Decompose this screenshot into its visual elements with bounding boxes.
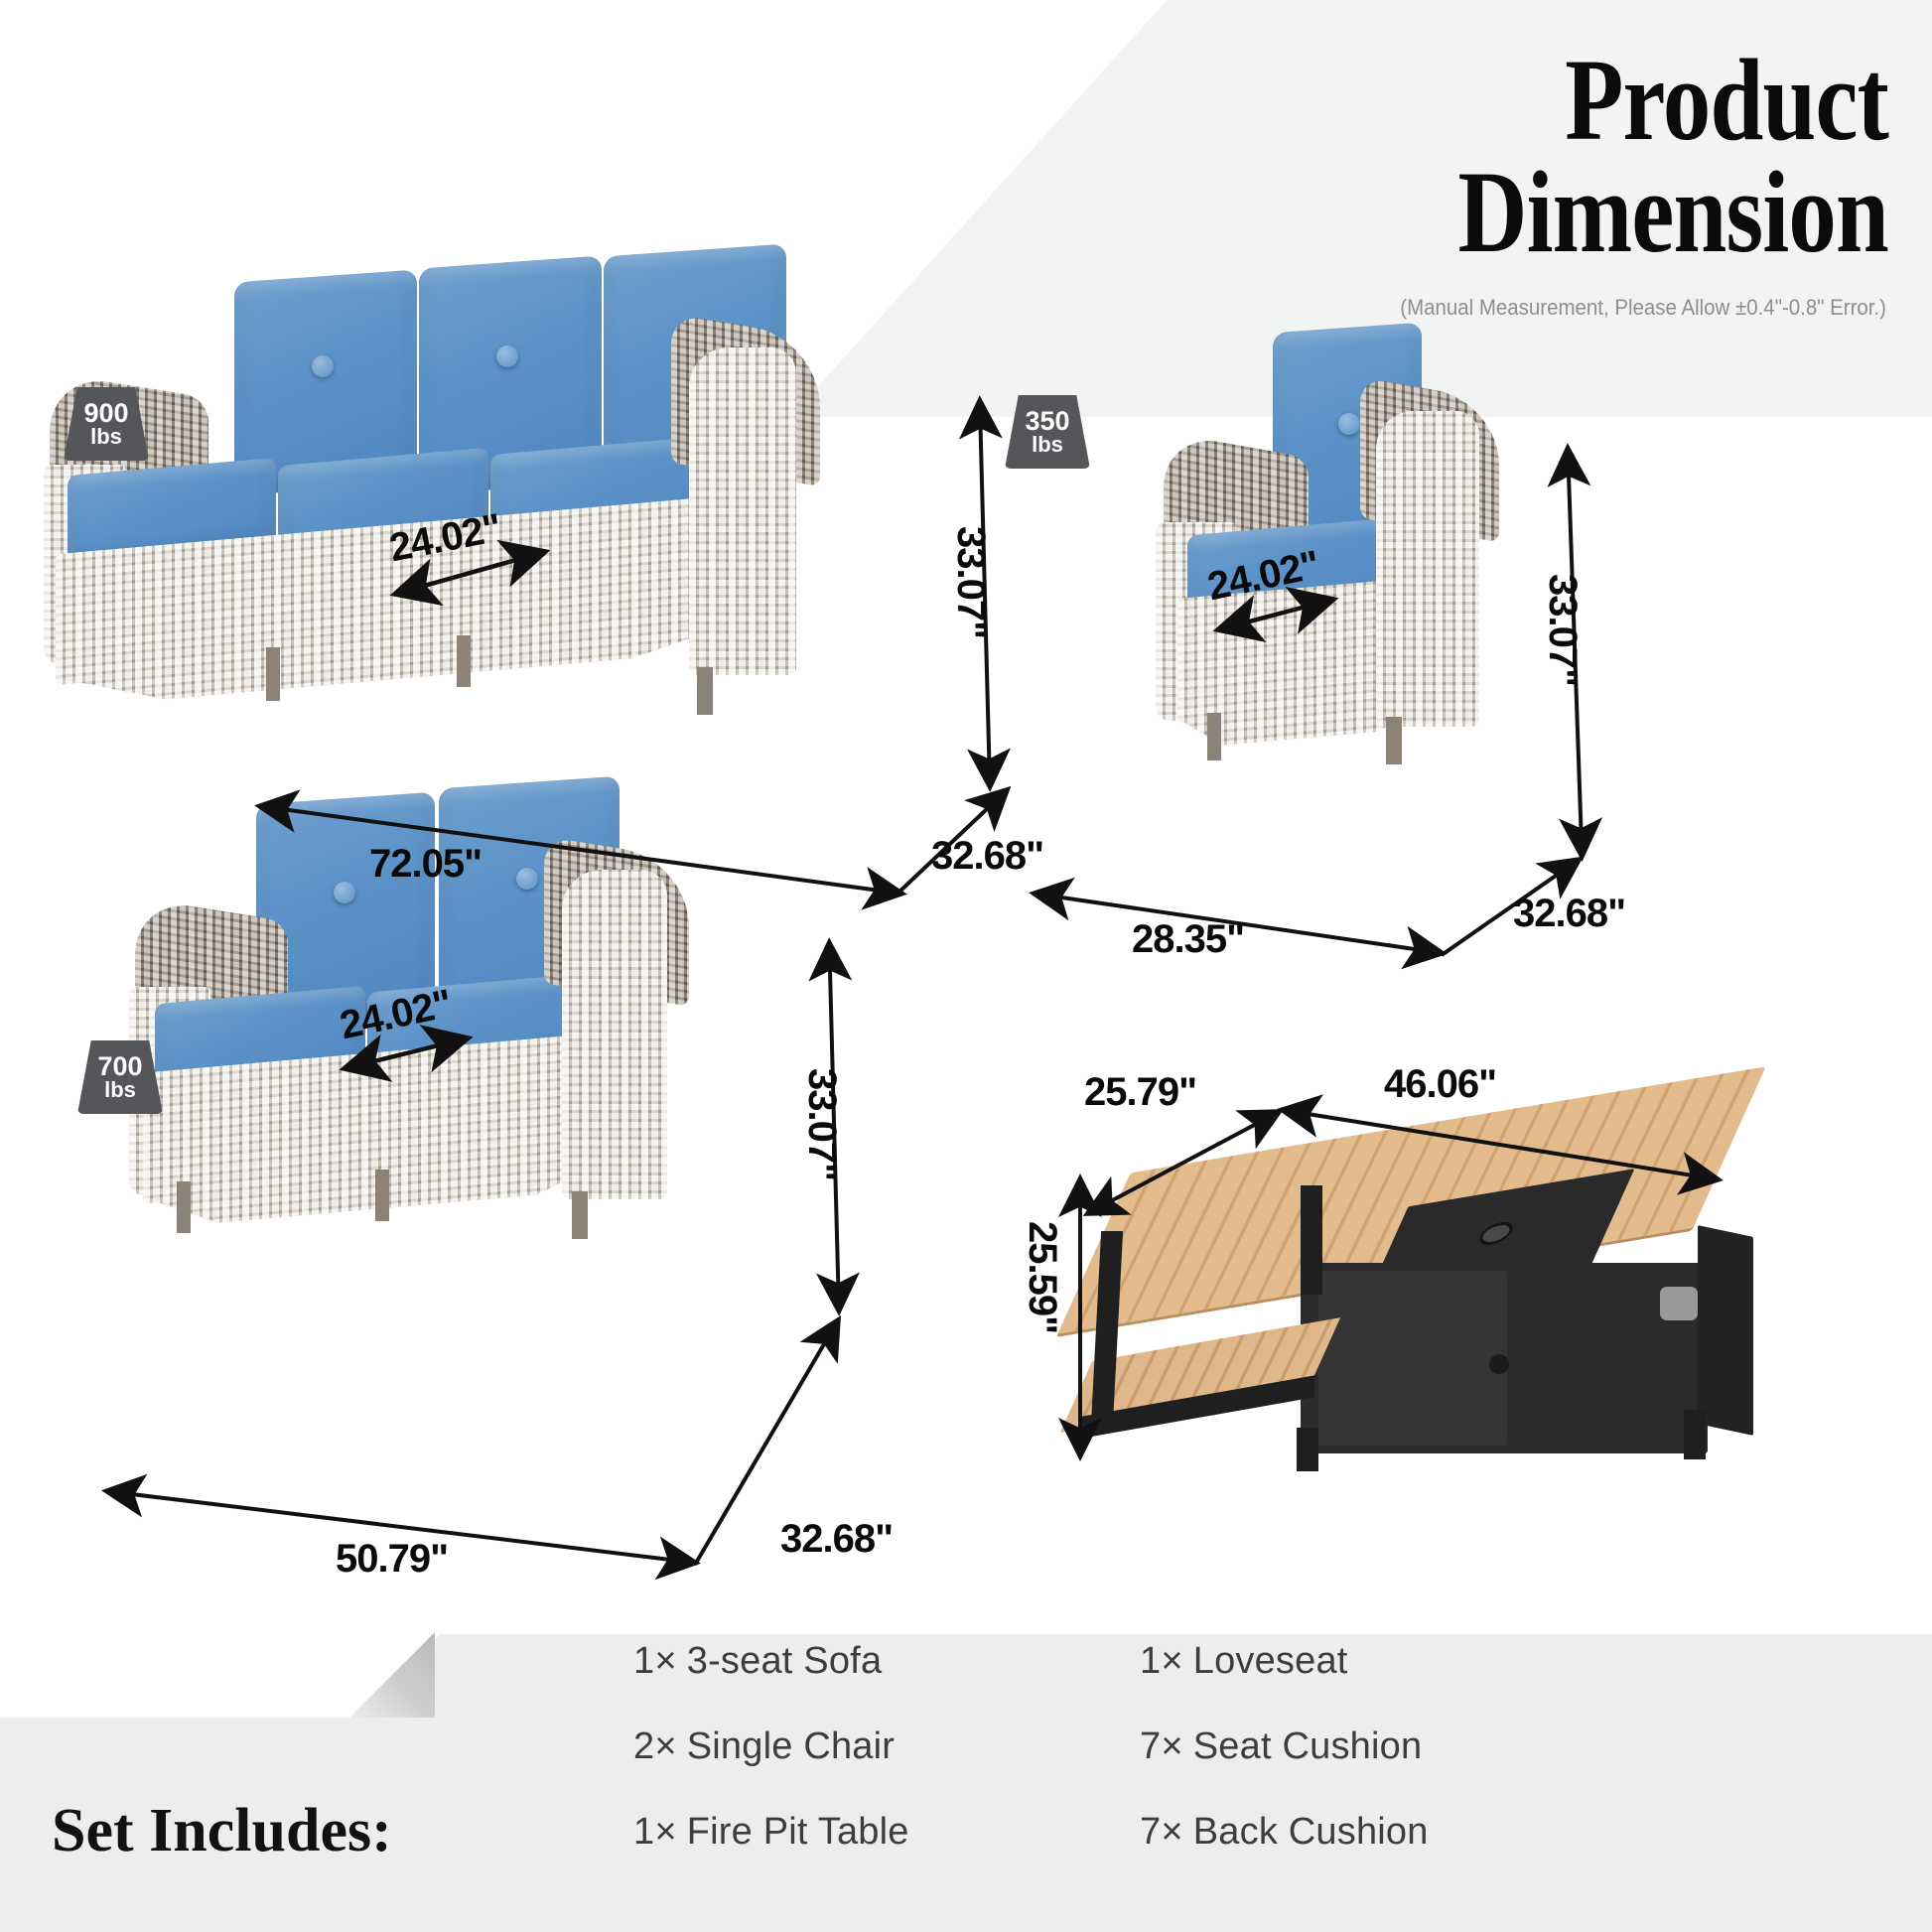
item-qty: 7× (1140, 1811, 1193, 1853)
item-label: Fire Pit Table (687, 1811, 909, 1853)
footer-background-panel (0, 1634, 1932, 1932)
item-label: Loveseat (1193, 1640, 1348, 1682)
loveseat-weight-badge: 700 lbs (77, 1040, 163, 1114)
page-title-line2: Dimension (1172, 156, 1888, 268)
loveseat-leg-2 (375, 1170, 389, 1221)
item-qty: 7× (1140, 1725, 1193, 1767)
loveseat-depth-label: 32.68" (780, 1517, 893, 1562)
item-label: Back Cushion (1193, 1811, 1429, 1853)
firepit-leg-back-left (1301, 1185, 1322, 1295)
infographic-canvas: Product Dimension (Manual Measurement, P… (0, 0, 1932, 1932)
chair-leg-1 (1207, 713, 1221, 760)
set-includes-heading: Set Includes: (52, 1796, 392, 1866)
weight-icon: 350 lbs (1005, 395, 1090, 469)
sofa-leg-1 (266, 647, 280, 701)
loveseat-illustration (129, 824, 804, 1340)
firepit-control-knob (1660, 1287, 1698, 1320)
measurement-disclaimer: (Manual Measurement, Please Allow ±0.4"-… (1055, 295, 1886, 321)
firepit-side-panel (1698, 1225, 1753, 1436)
chair-weight-unit: lbs (1032, 434, 1063, 456)
list-item: 1×Loveseat (1140, 1618, 1429, 1704)
list-item: 7×Seat Cushion (1140, 1704, 1429, 1789)
sofa-tuft-2 (496, 345, 518, 367)
firepit-table-illustration (1052, 1112, 1787, 1529)
firepit-leg-front-right (1684, 1410, 1706, 1459)
loveseat-leg-1 (177, 1181, 191, 1233)
item-label: Seat Cushion (1193, 1725, 1423, 1767)
chair-right-arm-side (1376, 411, 1479, 727)
chair-tuft (1338, 413, 1360, 435)
loveseat-tuft-2 (516, 868, 538, 890)
page-title-line1: Product (1172, 44, 1888, 156)
list-item: 1×3-seat Sofa (633, 1618, 909, 1704)
firepit-height-label: 25.59" (1020, 1221, 1064, 1333)
sofa-tuft-1 (312, 355, 334, 377)
loveseat-weight-unit: lbs (104, 1079, 136, 1101)
sofa-weight-value: 900 (83, 400, 128, 426)
set-includes-column-right: 1×Loveseat 7×Seat Cushion 7×Back Cushion (1140, 1618, 1429, 1874)
item-qty: 1× (633, 1640, 687, 1682)
sofa-weight-badge: 900 lbs (64, 387, 149, 461)
firepit-door-handle (1489, 1354, 1509, 1374)
loveseat-height-label: 33.07" (799, 1068, 844, 1180)
firepit-length-label: 46.06" (1384, 1062, 1496, 1107)
item-label: Single Chair (687, 1725, 895, 1767)
firepit-leg-front-center (1297, 1428, 1318, 1471)
chair-leg-2 (1386, 717, 1402, 764)
item-qty: 1× (1140, 1640, 1193, 1682)
loveseat-right-arm-side (562, 870, 667, 1199)
item-label: 3-seat Sofa (687, 1640, 883, 1682)
chair-depth-label: 32.68" (1513, 892, 1625, 936)
loveseat-leg-3 (572, 1191, 588, 1239)
loveseat-width-label: 50.79" (336, 1537, 448, 1582)
firepit-burner-hole (1475, 1220, 1517, 1248)
loveseat-weight-value: 700 (97, 1053, 142, 1079)
sofa-illustration (40, 298, 963, 854)
firepit-depth-label: 25.79" (1084, 1070, 1196, 1115)
item-qty: 2× (633, 1725, 687, 1767)
list-item: 2×Single Chair (633, 1704, 909, 1789)
loveseat-tuft-1 (334, 882, 355, 903)
list-item: 7×Back Cushion (1140, 1789, 1429, 1874)
footer-fold-corner (349, 1632, 435, 1718)
chair-width-label: 28.35" (1132, 917, 1244, 962)
weight-icon: 700 lbs (77, 1040, 163, 1114)
sofa-leg-3 (697, 667, 713, 715)
sofa-height-label: 33.07" (948, 526, 993, 638)
page-title: Product Dimension (1172, 44, 1888, 269)
sofa-weight-unit: lbs (90, 426, 122, 448)
firepit-cabinet-door (1318, 1271, 1507, 1446)
item-qty: 1× (633, 1811, 687, 1853)
sofa-leg-2 (457, 635, 471, 687)
chair-weight-value: 350 (1025, 408, 1069, 434)
sofa-right-arm-side (689, 347, 796, 675)
weight-icon: 900 lbs (64, 387, 149, 461)
chair-height-label: 33.07" (1540, 574, 1585, 686)
list-item: 1×Fire Pit Table (633, 1789, 909, 1874)
sofa-depth-label: 32.68" (931, 834, 1043, 879)
set-includes-column-left: 1×3-seat Sofa 2×Single Chair 1×Fire Pit … (633, 1618, 909, 1874)
sofa-width-label: 72.05" (369, 842, 482, 887)
chair-weight-badge: 350 lbs (1005, 395, 1090, 469)
